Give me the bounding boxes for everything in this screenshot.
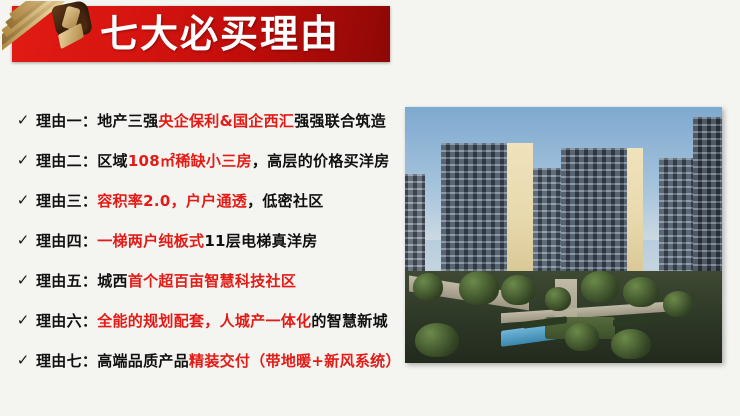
reason-label: 理由二： <box>36 152 97 170</box>
reason-plain: ，低密社区 <box>247 192 324 210</box>
project-rendering-image <box>405 107 722 363</box>
reason-text: 理由七：高端品质产品精装交付（带地暖+新风系统） <box>36 350 401 371</box>
reason-plain: 城西 <box>97 272 128 290</box>
reasons-list: ✓理由一：地产三强央企保利&国企西汇强强联合筑造✓理由二：区域108㎡稀缺小三房… <box>0 100 400 380</box>
reason-plain: 区域 <box>97 152 128 170</box>
building <box>561 148 627 276</box>
reason-highlight: 精装交付（带地暖+新风系统） <box>189 352 401 370</box>
reason-text: 理由三：容积率2.0，户户通透，低密社区 <box>36 190 324 211</box>
reason-label: 理由五： <box>36 272 97 290</box>
reason-plain: 地产三强 <box>97 112 158 130</box>
page-title: 七大必买理由 <box>100 10 340 58</box>
reason-row: ✓理由七：高端品质产品精装交付（带地暖+新风系统） <box>0 340 400 380</box>
reason-plain: 的智慧新城 <box>311 312 388 330</box>
reason-label: 理由七： <box>36 352 97 370</box>
reason-text: 理由五：城西首个超百亩智慧科技社区 <box>36 270 296 291</box>
reason-label: 理由一： <box>36 112 97 130</box>
building <box>441 143 507 276</box>
reason-highlight: 一梯两户纯板式 <box>97 232 204 250</box>
reason-plain: 11层电梯真洋房 <box>204 232 317 250</box>
reason-highlight: 首个超百亩智慧科技社区 <box>128 272 296 290</box>
reason-plain: ，高层的价格买洋房 <box>252 152 390 170</box>
check-icon: ✓ <box>10 113 36 128</box>
reason-plain: 强强联合筑造 <box>294 112 386 130</box>
reason-label: 理由六： <box>36 312 97 330</box>
reason-text: 理由六：全能的规划配套，人城产一体化的智慧新城 <box>36 310 388 331</box>
reason-highlight: 全能的规划配套，人城产一体化 <box>97 312 311 330</box>
reason-label: 理由三： <box>36 192 97 210</box>
check-icon: ✓ <box>10 313 36 328</box>
reason-row: ✓理由四：一梯两户纯板式11层电梯真洋房 <box>0 220 400 260</box>
gold-ribbon-ornament-icon <box>2 1 112 73</box>
check-icon: ✓ <box>10 273 36 288</box>
reason-row: ✓理由六：全能的规划配套，人城产一体化的智慧新城 <box>0 300 400 340</box>
reason-row: ✓理由五：城西首个超百亩智慧科技社区 <box>0 260 400 300</box>
reason-row: ✓理由一：地产三强央企保利&国企西汇强强联合筑造 <box>0 100 400 140</box>
reason-row: ✓理由二：区域108㎡稀缺小三房，高层的价格买洋房 <box>0 140 400 180</box>
reason-label: 理由四： <box>36 232 97 250</box>
building <box>405 174 425 276</box>
reason-row: ✓理由三：容积率2.0，户户通透，低密社区 <box>0 180 400 220</box>
reason-highlight: 108㎡稀缺小三房 <box>128 152 252 170</box>
reason-text: 理由一：地产三强央企保利&国企西汇强强联合筑造 <box>36 110 386 131</box>
reason-highlight: 央企保利&国企西汇 <box>158 112 294 130</box>
title-banner: 七大必买理由 <box>12 6 390 62</box>
landscaped-grounds <box>405 271 722 363</box>
check-icon: ✓ <box>10 353 36 368</box>
reason-text: 理由二：区域108㎡稀缺小三房，高层的价格买洋房 <box>36 150 390 171</box>
check-icon: ✓ <box>10 233 36 248</box>
reason-plain: 高端品质产品 <box>97 352 189 370</box>
check-icon: ✓ <box>10 153 36 168</box>
reason-text: 理由四：一梯两户纯板式11层电梯真洋房 <box>36 230 318 251</box>
building <box>533 168 563 276</box>
check-icon: ✓ <box>10 193 36 208</box>
reason-highlight: 容积率2.0，户户通透 <box>97 192 247 210</box>
